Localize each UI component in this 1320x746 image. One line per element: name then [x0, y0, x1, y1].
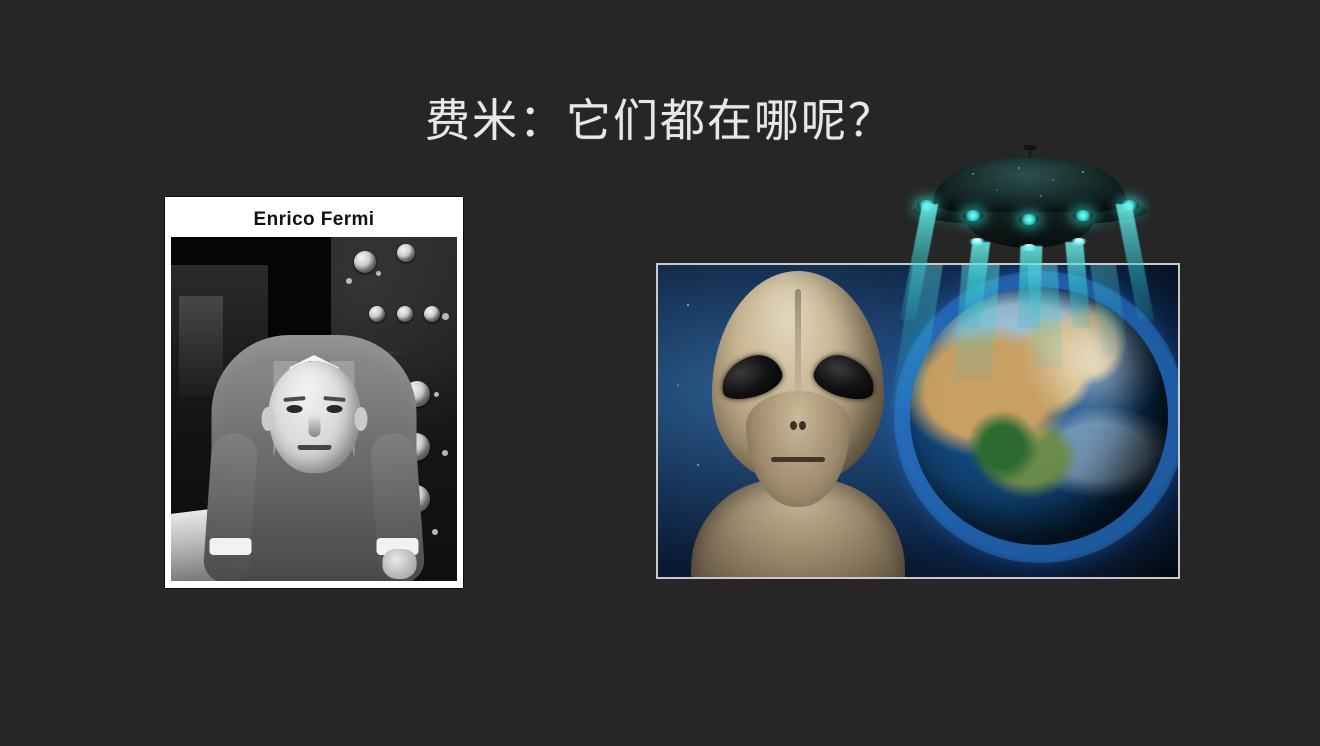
panel-indicator: [442, 450, 448, 456]
eyebrow-right: [323, 396, 345, 402]
ufo-rim-light: [963, 210, 983, 221]
alien-head: [712, 271, 884, 483]
ufo-rim-light: [1019, 214, 1039, 225]
light-beam: [1018, 246, 1043, 328]
grey-alien: [676, 265, 920, 577]
panel-dial: [369, 306, 385, 322]
fermi-arm-left: [202, 432, 258, 581]
panel-indicator: [434, 392, 439, 397]
eye-right: [326, 405, 342, 413]
ufo-rim-light: [1073, 210, 1093, 221]
panel-dial: [397, 244, 415, 262]
enrico-fermi-caption: Enrico Fermi: [171, 203, 457, 237]
eyebrow-left: [283, 396, 305, 402]
fermi-hand: [383, 549, 417, 579]
presentation-slide: 费米：它们都在哪呢？ Enrico Fermi: [0, 0, 1320, 746]
eye-left: [286, 405, 302, 413]
alien-mouth: [771, 457, 825, 462]
ufo-dome: [933, 158, 1127, 214]
fermi-figure: [212, 335, 417, 581]
shirt-cuff-left: [210, 538, 252, 555]
enrico-fermi-photograph: [171, 237, 457, 581]
nose: [308, 415, 320, 437]
panel-dial: [424, 306, 440, 322]
panel-indicator: [432, 529, 438, 535]
enrico-fermi-photo-frame: Enrico Fermi: [165, 197, 463, 588]
panel-indicator: [442, 313, 449, 320]
ufo-dome-lights: [933, 158, 1127, 214]
page-title: 费米：它们都在哪呢？: [0, 92, 1320, 150]
panel-dial: [397, 306, 413, 322]
alien-nostril-left: [790, 421, 797, 430]
alien-nostril-right: [799, 421, 806, 430]
mouth: [297, 445, 331, 450]
ufo-flying-saucer: [913, 158, 1147, 250]
panel-dial: [354, 251, 376, 273]
panel-indicator: [346, 278, 352, 284]
panel-indicator: [376, 271, 381, 276]
fermi-head: [268, 361, 360, 473]
alien-earth-image: [656, 263, 1180, 579]
